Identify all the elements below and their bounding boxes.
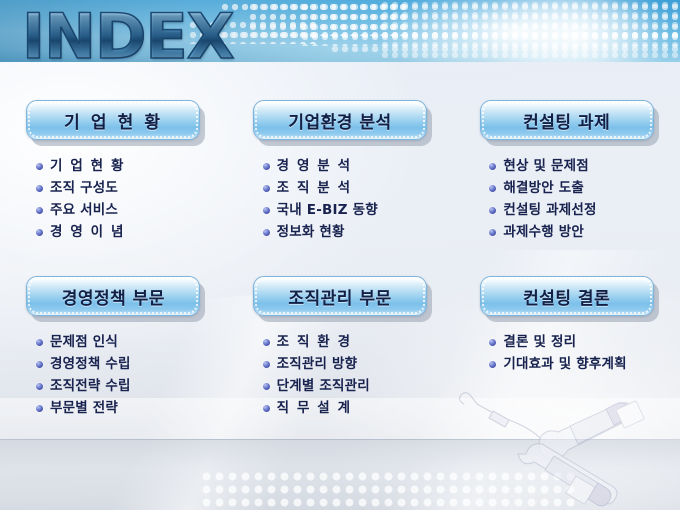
section-caption-label: 경영정책 부문 [62, 284, 165, 309]
list-item-label: 경영정책 수립 [50, 356, 131, 372]
list-item[interactable]: 정보화 현황 [263, 222, 444, 244]
list-item-label: 해결방안 도출 [503, 180, 584, 196]
section-item-list: 문제점 인식경영정책 수립조직전략 수립부문별 전략 [36, 332, 217, 419]
list-item[interactable]: 조 직 분 석 [263, 178, 444, 200]
dot-matrix-icon-4 [380, 0, 680, 58]
bullet-sphere-icon [36, 185, 43, 192]
bullet-sphere-icon [36, 383, 43, 390]
index-section: 조직관리 부문조 직 환 경조직관리 방향단계별 조직관리직 무 설 계 [227, 276, 454, 419]
section-caption-button-wrap: 컨설팅 결론 [480, 276, 654, 316]
section-caption-label: 기 업 현 황 [64, 108, 163, 133]
list-item-label: 경 영 분 석 [277, 158, 352, 174]
list-item-label: 컨설팅 과제선정 [503, 202, 596, 218]
list-item-label: 국내 E-BIZ 동향 [277, 202, 378, 218]
list-item-label: 현상 및 문제점 [503, 158, 589, 174]
section-caption-label: 기업환경 분석 [288, 108, 391, 133]
bullet-sphere-icon [263, 405, 270, 412]
bullet-sphere-icon [489, 163, 496, 170]
index-sections-grid: 기 업 현 황기 업 현 황조직 구성도주요 서비스경 영 이 념기업환경 분석… [0, 100, 680, 420]
bullet-sphere-icon [489, 339, 496, 346]
bullet-sphere-icon [489, 361, 496, 368]
list-item[interactable]: 기 업 현 황 [36, 156, 217, 178]
list-item-label: 직 무 설 계 [277, 400, 352, 416]
bullet-sphere-icon [36, 207, 43, 214]
index-section: 경영정책 부문문제점 인식경영정책 수립조직전략 수립부문별 전략 [0, 276, 227, 419]
dot-matrix-icon-5 [210, 30, 680, 42]
list-item[interactable]: 직 무 설 계 [263, 398, 444, 420]
bullet-sphere-icon [263, 163, 270, 170]
list-item[interactable]: 경영정책 수립 [36, 354, 217, 376]
list-item-label: 단계별 조직관리 [277, 378, 370, 394]
horizon-divider [0, 439, 680, 440]
list-item-label: 조 직 환 경 [277, 334, 352, 350]
dot-matrix-icon-3 [300, 2, 680, 46]
list-item-label: 부문별 전략 [50, 400, 118, 416]
bullet-sphere-icon [489, 207, 496, 214]
list-item-label: 경 영 이 념 [50, 224, 125, 240]
list-item[interactable]: 과제수행 방안 [489, 222, 670, 244]
bullet-sphere-icon [36, 405, 43, 412]
list-item[interactable]: 부문별 전략 [36, 398, 217, 420]
background-floor-shade [0, 440, 680, 510]
presentation-slide: INDEX 기 업 현 황기 업 현 황조직 구성도주요 서비스경 영 이 념기… [0, 0, 680, 510]
list-item[interactable]: 조직전략 수립 [36, 376, 217, 398]
list-item[interactable]: 경 영 이 념 [36, 222, 217, 244]
bullet-sphere-icon [36, 163, 43, 170]
section-item-list: 경 영 분 석조 직 분 석국내 E-BIZ 동향정보화 현황 [263, 156, 444, 243]
list-item[interactable]: 단계별 조직관리 [263, 376, 444, 398]
list-item[interactable]: 주요 서비스 [36, 200, 217, 222]
list-item-label: 정보화 현황 [277, 224, 345, 240]
list-item[interactable]: 조직 구성도 [36, 178, 217, 200]
section-caption-button-wrap: 조직관리 부문 [253, 276, 427, 316]
list-item-label: 조직관리 방향 [277, 356, 358, 372]
bullet-sphere-icon [36, 229, 43, 236]
section-caption-button-wrap: 경영정책 부문 [26, 276, 200, 316]
bullet-sphere-icon [263, 229, 270, 236]
list-item[interactable]: 현상 및 문제점 [489, 156, 670, 178]
dot-matrix-icon-2 [248, 2, 408, 36]
list-item-label: 기대효과 및 향후계획 [503, 356, 626, 372]
list-item[interactable]: 조직관리 방향 [263, 354, 444, 376]
list-item[interactable]: 조 직 환 경 [263, 332, 444, 354]
list-item-label: 문제점 인식 [50, 334, 118, 350]
section-caption-label: 컨설팅 과제 [523, 108, 610, 133]
bullet-sphere-icon [489, 185, 496, 192]
list-item-label: 과제수행 방안 [503, 224, 584, 240]
index-section: 컨설팅 결론결론 및 정리기대효과 및 향후계획 [453, 276, 680, 419]
bullet-sphere-icon [263, 361, 270, 368]
list-item-label: 기 업 현 황 [50, 158, 125, 174]
section-caption-button-wrap: 기 업 현 황 [26, 100, 200, 140]
bullet-sphere-icon [263, 207, 270, 214]
list-item-label: 조직전략 수립 [50, 378, 131, 394]
list-item[interactable]: 기대효과 및 향후계획 [489, 354, 670, 376]
section-caption-button[interactable]: 컨설팅 과제 [480, 100, 654, 140]
list-item[interactable]: 결론 및 정리 [489, 332, 670, 354]
bullet-sphere-icon [263, 383, 270, 390]
section-caption-button-wrap: 컨설팅 과제 [480, 100, 654, 140]
list-item-label: 조직 구성도 [50, 180, 118, 196]
section-item-list: 현상 및 문제점해결방안 도출컨설팅 과제선정과제수행 방안 [489, 156, 670, 243]
list-item[interactable]: 컨설팅 과제선정 [489, 200, 670, 222]
page-title: INDEX [22, 6, 234, 68]
index-section: 컨설팅 과제현상 및 문제점해결방안 도출컨설팅 과제선정과제수행 방안 [453, 100, 680, 243]
bullet-sphere-icon [263, 339, 270, 346]
list-item-label: 조 직 분 석 [277, 180, 352, 196]
list-item[interactable]: 문제점 인식 [36, 332, 217, 354]
list-item[interactable]: 국내 E-BIZ 동향 [263, 200, 444, 222]
section-item-list: 조 직 환 경조직관리 방향단계별 조직관리직 무 설 계 [263, 332, 444, 419]
index-section: 기업환경 분석경 영 분 석조 직 분 석국내 E-BIZ 동향정보화 현황 [227, 100, 454, 243]
dot-matrix-icon-6 [330, 44, 680, 54]
section-item-list: 결론 및 정리기대효과 및 향후계획 [489, 332, 670, 376]
section-caption-button[interactable]: 기업환경 분석 [253, 100, 427, 140]
section-caption-button[interactable]: 조직관리 부문 [253, 276, 427, 316]
section-caption-button-wrap: 기업환경 분석 [253, 100, 427, 140]
section-caption-label: 조직관리 부문 [288, 284, 391, 309]
list-item[interactable]: 해결방안 도출 [489, 178, 670, 200]
list-item-label: 주요 서비스 [50, 202, 118, 218]
bullet-sphere-icon [489, 229, 496, 236]
section-caption-button[interactable]: 경영정책 부문 [26, 276, 200, 316]
index-section: 기 업 현 황기 업 현 황조직 구성도주요 서비스경 영 이 념 [0, 100, 227, 243]
section-caption-button[interactable]: 기 업 현 황 [26, 100, 200, 140]
bullet-sphere-icon [36, 339, 43, 346]
section-caption-button[interactable]: 컨설팅 결론 [480, 276, 654, 316]
bullet-sphere-icon [36, 361, 43, 368]
header-glow [470, 0, 680, 62]
list-item-label: 결론 및 정리 [503, 334, 576, 350]
section-caption-label: 컨설팅 결론 [523, 284, 610, 309]
bullet-sphere-icon [263, 185, 270, 192]
section-item-list: 기 업 현 황조직 구성도주요 서비스경 영 이 념 [36, 156, 217, 243]
list-item[interactable]: 경 영 분 석 [263, 156, 444, 178]
